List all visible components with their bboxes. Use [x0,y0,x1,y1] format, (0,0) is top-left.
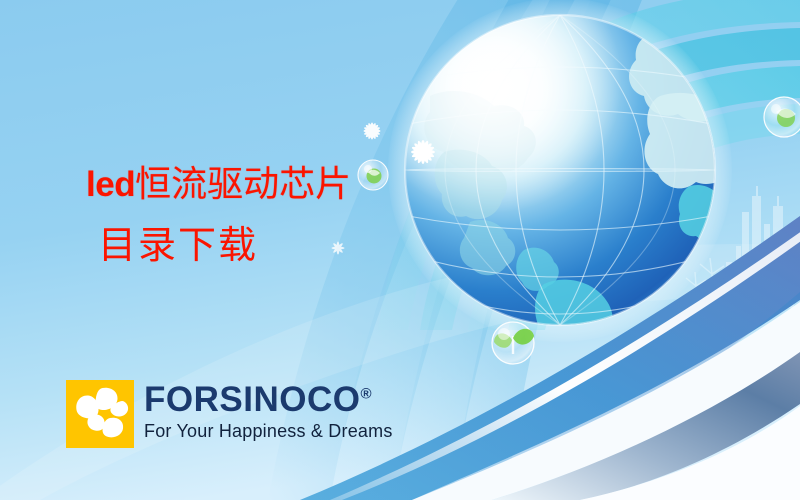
headline-line-1-latin: led [86,165,135,204]
logo-brand-name: FORSINOCO® [144,382,393,418]
logo-tagline: For Your Happiness & Dreams [144,420,393,442]
flower-decoration [411,140,435,164]
headline-line-2: 目录下载 [98,223,351,269]
company-logo: FORSINOCO® For Your Happiness & Dreams [66,380,393,448]
registered-trademark-icon: ® [360,385,372,402]
poster-headline: led恒流驱动芯片 目录下载 [86,162,351,269]
clover-petals-icon [66,380,134,448]
logo-wordmark-block: FORSINOCO® For Your Happiness & Dreams [144,380,393,442]
marketing-poster: led恒流驱动芯片 目录下载 FORSINOCO® For Your Happi… [0,0,800,500]
logo-brand-text: FORSINOCO [144,380,360,419]
flower-decoration [363,122,380,139]
bubble-edge [764,97,800,137]
headline-line-1: led恒流驱动芯片 [86,162,351,207]
logo-mark-icon [66,380,134,448]
bubble-globe-small [358,160,388,190]
headline-line-1-cjk: 恒流驱动芯片 [135,164,351,204]
globe-highlight [405,15,715,325]
bubble-leaf [492,322,534,364]
